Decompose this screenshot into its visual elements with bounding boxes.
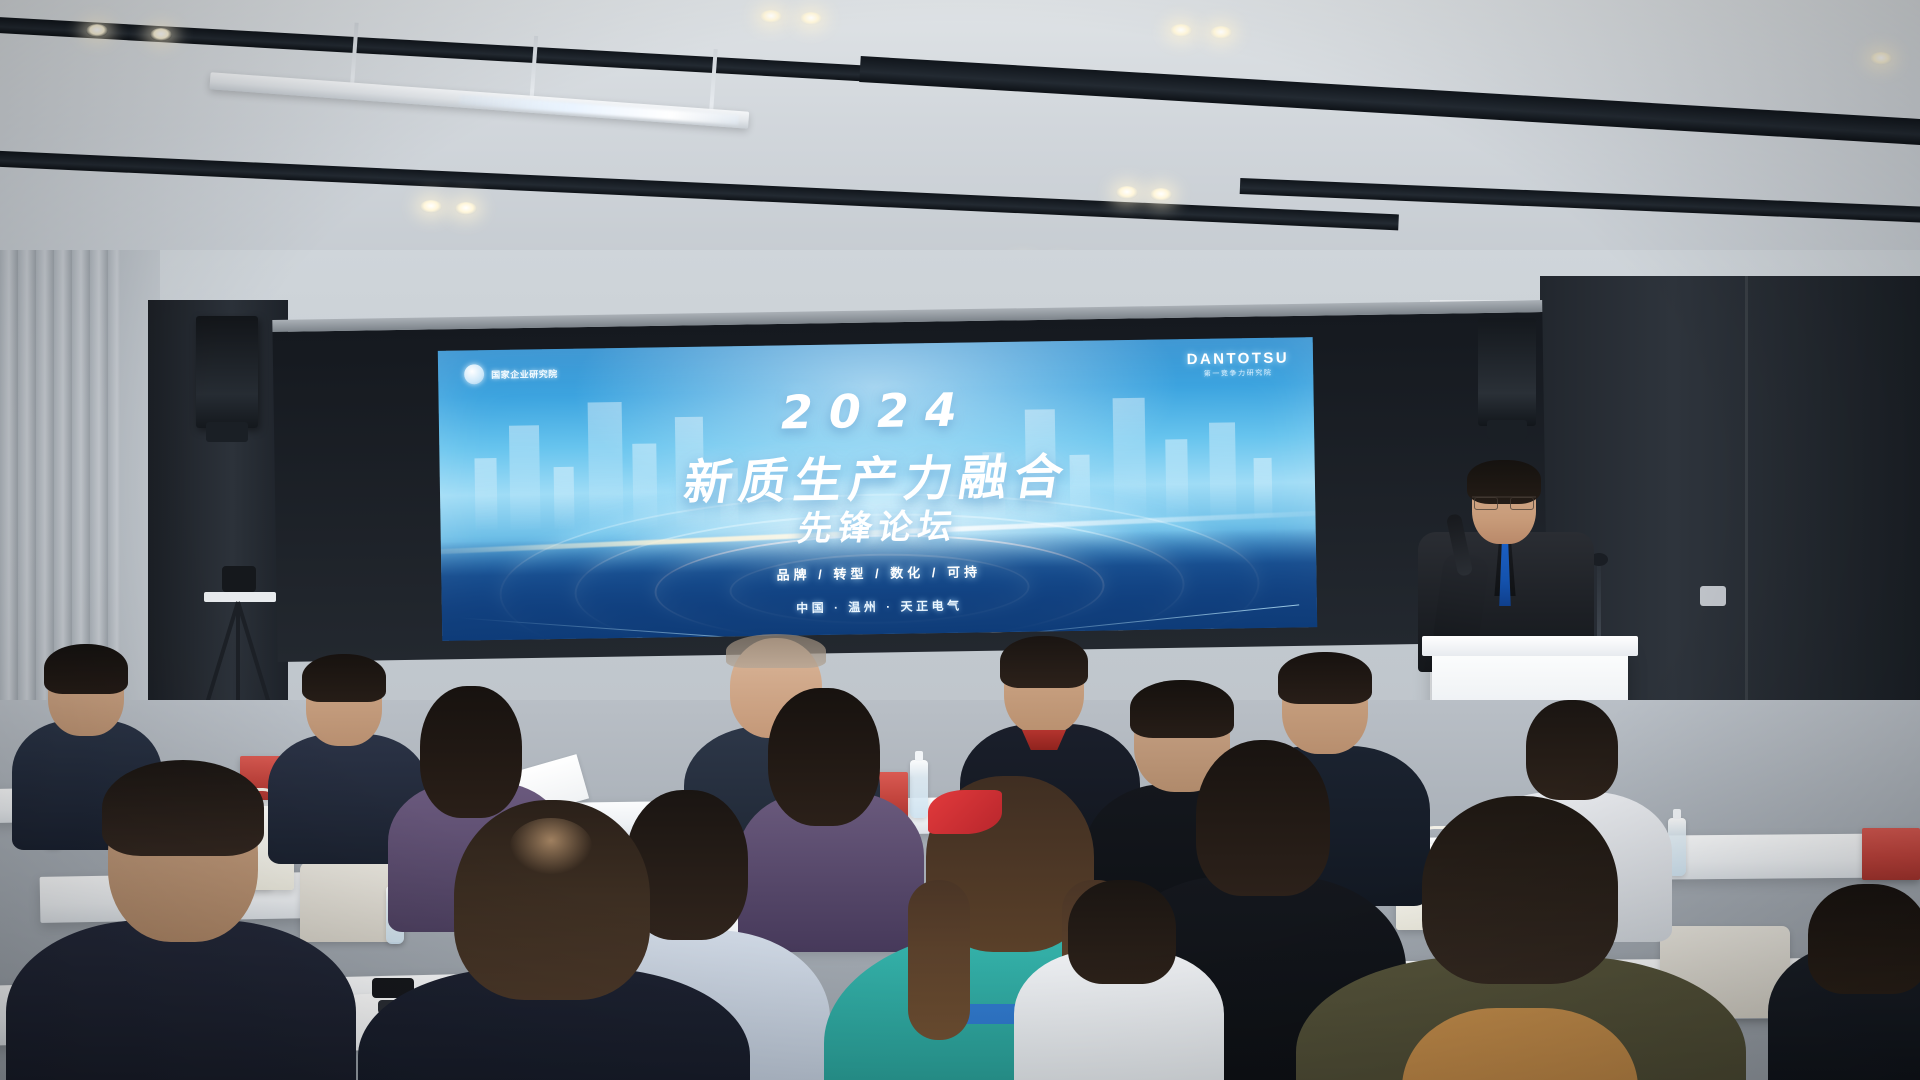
- attendee-white-shirt-lower: [1024, 880, 1204, 1080]
- led-stage-screen: 国家企业研究院 DANTOTSU 第一竞争力研究院 2024 新质生产力融合 先…: [438, 337, 1317, 641]
- ceiling-channel-2: [859, 56, 1920, 148]
- ceiling-spotlight: [760, 10, 782, 23]
- screen-logo-right: DANTOTSU 第一竞争力研究院: [1187, 350, 1290, 380]
- lectern-top: [1422, 636, 1638, 656]
- ceiling-spotlight: [420, 200, 442, 213]
- attendee-olive-hoodie: [1306, 796, 1726, 1080]
- camera-icon: [222, 566, 256, 592]
- red-gift-bag: [1862, 828, 1920, 880]
- ceiling-spotlight: [1210, 26, 1232, 39]
- loudspeaker-left: [196, 316, 258, 428]
- ceiling-spotlight: [86, 24, 108, 37]
- ceiling-spotlight: [150, 28, 172, 41]
- screen-location: 中国 · 温州 · 天正电气: [796, 597, 963, 617]
- screen-brand-name: DANTOTSU: [1187, 350, 1290, 369]
- conference-room-scene: 国家企业研究院 DANTOTSU 第一竞争力研究院 2024 新质生产力融合 先…: [0, 0, 1920, 1080]
- ceiling-spotlight: [1870, 52, 1892, 65]
- screen-subtitle: 先锋论坛: [794, 499, 962, 551]
- ceiling-spotlight: [455, 202, 477, 215]
- ceiling-channel-3: [0, 150, 1399, 230]
- ceiling-spotlight: [1116, 186, 1138, 199]
- attendee-balding-foreground: [398, 800, 698, 1080]
- loudspeaker-right: [1478, 318, 1536, 426]
- hair-strand: [908, 880, 970, 1040]
- attendee-navy-blazer: [56, 770, 306, 1080]
- red-hair-bow: [928, 790, 1002, 834]
- attendee-dark-jacket-right: [1768, 884, 1920, 1080]
- institute-emblem-icon: [464, 364, 484, 384]
- screen-year: 2024: [775, 382, 977, 439]
- screen-logo-left: 国家企业研究院: [464, 363, 558, 384]
- glasses-icon: [1472, 496, 1536, 506]
- screen-tagline: 品牌 / 转型 / 数化 / 可持: [776, 561, 981, 583]
- screen-brand-sub: 第一竞争力研究院: [1187, 368, 1289, 380]
- ceiling-spotlight: [1150, 188, 1172, 201]
- pendant-rod: [530, 36, 539, 98]
- ceiling-spotlight: [1170, 24, 1192, 37]
- wall-socket: [1700, 586, 1726, 606]
- bald-spot: [510, 818, 592, 874]
- ceiling-spotlight: [800, 12, 822, 25]
- screen-logo-left-text: 国家企业研究院: [491, 367, 558, 381]
- tripod-plate: [204, 592, 276, 602]
- pendant-rod: [350, 23, 359, 85]
